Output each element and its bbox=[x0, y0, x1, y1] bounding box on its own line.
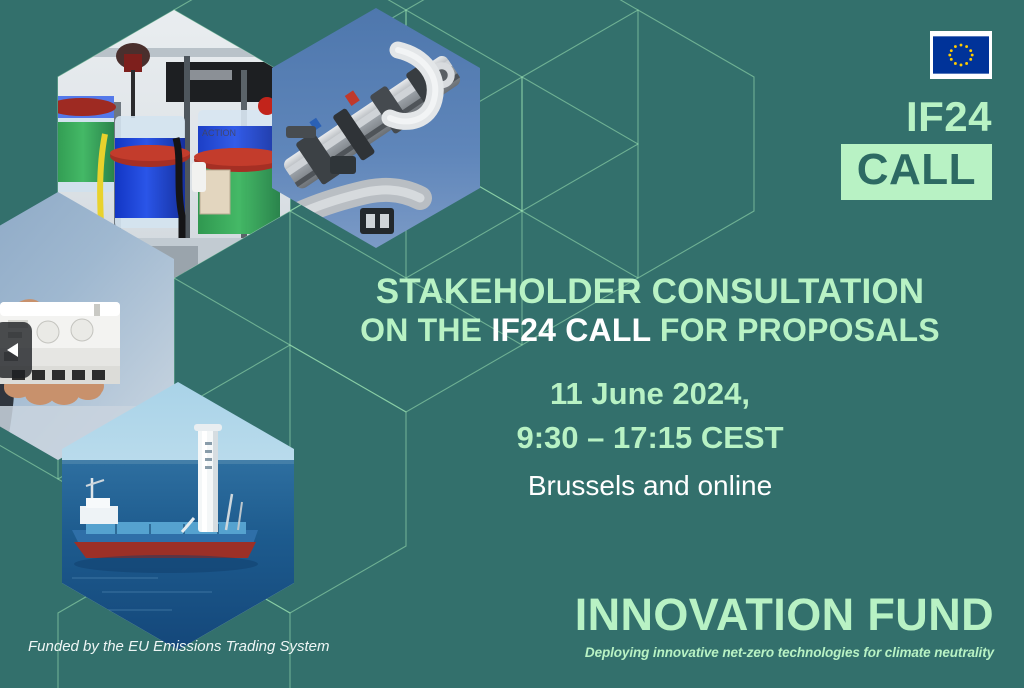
call-badge: IF24 CALL bbox=[841, 96, 992, 200]
svg-text:ACTION: ACTION bbox=[202, 128, 236, 138]
photo-hex-industrial-plant bbox=[272, 8, 480, 248]
event-datetime: 11 June 2024, 9:30 – 17:15 CEST bbox=[300, 372, 1000, 460]
headline-highlight: IF24 CALL bbox=[491, 312, 650, 348]
headline-line-1: STAKEHOLDER CONSULTATION bbox=[300, 272, 1000, 311]
call-label: CALL bbox=[841, 144, 992, 200]
chevron-left-icon bbox=[6, 342, 20, 358]
if24-label: IF24 bbox=[841, 96, 992, 138]
headline-prefix: ON THE bbox=[360, 312, 491, 348]
event-date: 11 June 2024, bbox=[300, 372, 1000, 416]
page-title: STAKEHOLDER CONSULTATION ON THE IF24 CAL… bbox=[300, 272, 1000, 350]
carousel-prev-button[interactable] bbox=[0, 322, 32, 378]
event-location: Brussels and online bbox=[300, 470, 1000, 502]
eu-flag-icon bbox=[930, 31, 992, 79]
event-time: 9:30 – 17:15 CEST bbox=[300, 416, 1000, 460]
innovation-fund-event-banner: ACTION bbox=[0, 0, 1024, 688]
headline-suffix: FOR PROPOSALS bbox=[651, 312, 940, 348]
headline-line-2: ON THE IF24 CALL FOR PROPOSALS bbox=[300, 311, 1000, 349]
funding-note: Funded by the EU Emissions Trading Syste… bbox=[28, 638, 330, 655]
innovation-fund-logo: INNOVATION FUND Deploying innovative net… bbox=[575, 592, 994, 660]
innovation-fund-tagline: Deploying innovative net-zero technologi… bbox=[575, 645, 994, 660]
innovation-fund-title: INNOVATION FUND bbox=[575, 592, 994, 637]
